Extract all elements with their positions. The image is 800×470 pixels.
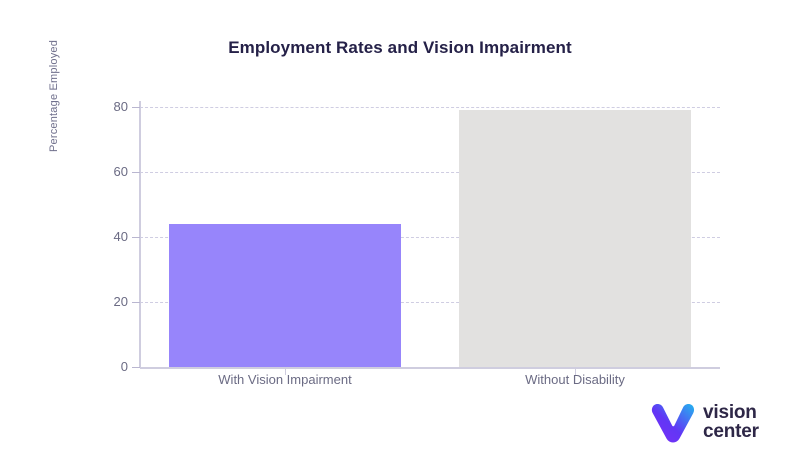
y-tick-mark <box>132 367 140 368</box>
bar-chart: Employment Rates and Vision Impairment P… <box>0 0 800 470</box>
y-tick-label: 80 <box>88 100 128 113</box>
vision-center-logo: vision center <box>650 398 795 448</box>
bar-1[interactable] <box>459 110 691 367</box>
gridline <box>140 107 720 108</box>
y-tick-mark <box>132 172 140 173</box>
x-axis-line <box>140 367 720 369</box>
y-axis-line <box>139 101 141 368</box>
y-axis-title: Percentage Employed <box>48 0 60 152</box>
logo-line-2: center <box>703 423 759 442</box>
y-tick-label: 0 <box>88 360 128 373</box>
y-tick-mark <box>132 107 140 108</box>
plot-area <box>140 107 720 367</box>
y-tick-label: 40 <box>88 230 128 243</box>
bar-0[interactable] <box>169 224 401 367</box>
y-tick-label: 60 <box>88 165 128 178</box>
chart-title: Employment Rates and Vision Impairment <box>0 38 800 58</box>
y-tick-mark <box>132 237 140 238</box>
vision-center-v-mark <box>650 401 696 445</box>
y-tick-label: 20 <box>88 295 128 308</box>
x-tick-label: Without Disability <box>430 372 720 387</box>
y-tick-mark <box>132 302 140 303</box>
logo-wordmark: vision center <box>703 404 759 441</box>
x-tick-label: With Vision Impairment <box>140 372 430 387</box>
